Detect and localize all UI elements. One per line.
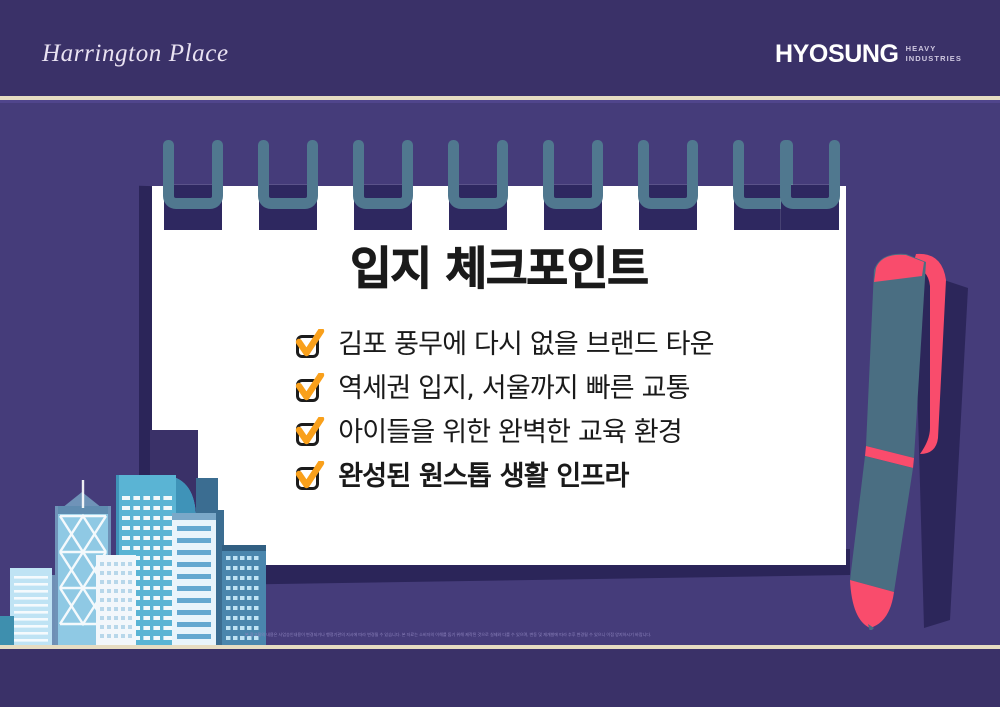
check-icon [294,417,325,448]
list-item-label: 역세권 입지, 서울까지 빠른 교통 [338,373,689,404]
check-icon-tick [294,417,325,448]
check-icon [294,329,325,360]
hyosung-logo: HYOSUNG HEAVY INDUSTRIES [775,42,962,67]
notepad-content: 입지 체크포인트 김포 풍무에 다시 없을 브랜드 타운 [152,186,846,565]
hyosung-subtitle: HEAVY INDUSTRIES [906,42,962,64]
hyosung-subtitle-line2: INDUSTRIES [906,54,962,63]
checkpoint-list: 김포 풍무에 다시 없을 브랜드 타운 역세권 입지, 서울까지 빠른 교통 [294,329,713,492]
check-icon [294,461,325,492]
list-item[interactable]: 역세권 입지, 서울까지 빠른 교통 [294,373,689,404]
top-accent-rule [0,100,1000,103]
list-item[interactable]: 아이들을 위한 완벽한 교육 환경 [294,417,682,448]
list-item[interactable]: 김포 풍무에 다시 없을 브랜드 타운 [294,329,713,360]
check-icon-tick [294,461,325,492]
list-item-label: 김포 풍무에 다시 없을 브랜드 타운 [338,329,713,360]
list-item-label: 아이들을 위한 완벽한 교육 환경 [338,417,682,448]
bottom-band [0,649,1000,707]
page-title: 입지 체크포인트 [350,246,647,291]
list-item[interactable]: 완성된 원스톱 생활 인프라 [294,461,628,492]
hyosung-subtitle-line1: HEAVY [906,44,937,53]
list-item-label: 완성된 원스톱 생활 인프라 [338,461,628,492]
pen-illustration [830,240,1000,630]
legal-disclaimer: 본 광고물의 내용은 사업승인내용이 변경되거나 행정기관의 지시에 따라 변경… [245,629,805,641]
hyosung-wordmark: HYOSUNG [775,42,899,67]
check-icon-tick [294,329,325,360]
check-icon [294,373,325,404]
poster-canvas: 입지 체크포인트 김포 풍무에 다시 없을 브랜드 타운 [0,0,1000,707]
check-icon-tick [294,373,325,404]
estate-brand-logo: Harrington Place [42,40,229,68]
